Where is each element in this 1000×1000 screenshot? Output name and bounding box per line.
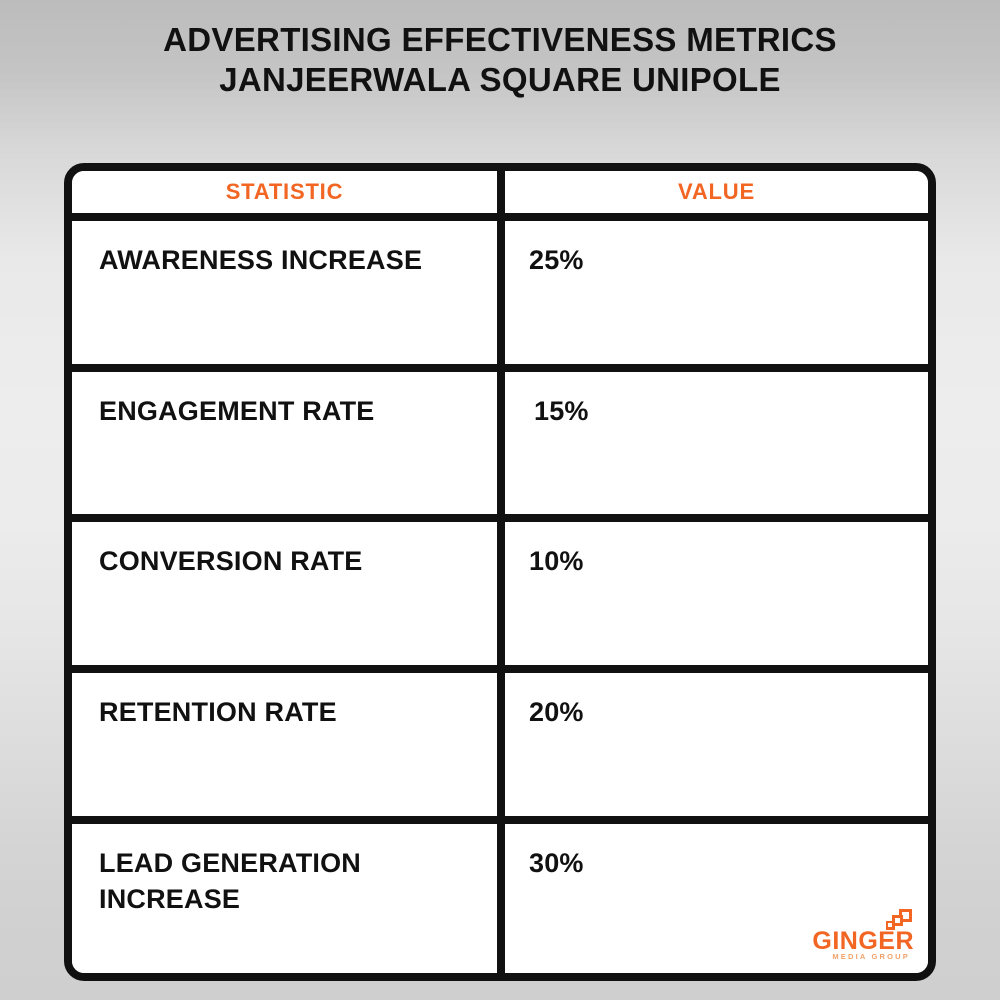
table-cell-value: 10% [505, 522, 928, 665]
metrics-table: STATISTIC VALUE AWARENESS INCREASE 25% E… [64, 163, 936, 981]
ginger-media-group-logo: GINGER MEDIA GROUP [774, 909, 914, 967]
table-row: CONVERSION RATE 10% [72, 522, 928, 673]
statistic-label: AWARENESS INCREASE [72, 243, 497, 279]
table-cell-value: 30% GINGER MEDIA GROUP [505, 824, 928, 973]
value-label: 15% [505, 394, 928, 430]
table-header-cell-value: VALUE [505, 171, 928, 213]
value-label: 10% [505, 544, 928, 580]
column-header-statistic: STATISTIC [226, 179, 344, 205]
column-header-value: VALUE [678, 179, 755, 205]
table-cell-statistic: ENGAGEMENT RATE [72, 372, 505, 515]
page-title: ADVERTISING EFFECTIVENESS METRICS JANJEE… [0, 20, 1000, 101]
statistic-label: LEAD GENERATION INCREASE [72, 846, 497, 917]
table-row: LEAD GENERATION INCREASE 30% GINGER MEDI… [72, 824, 928, 973]
table-cell-statistic: LEAD GENERATION INCREASE [72, 824, 505, 973]
table-cell-value: 25% [505, 221, 928, 364]
table-header-cell-statistic: STATISTIC [72, 171, 505, 213]
table-cell-statistic: CONVERSION RATE [72, 522, 505, 665]
logo-wordmark: GINGER [776, 929, 914, 954]
logo-tagline: MEDIA GROUP [776, 953, 910, 961]
table-header-row: STATISTIC VALUE [72, 171, 928, 221]
table-row: ENGAGEMENT RATE 15% [72, 372, 928, 523]
table-cell-value: 15% [505, 372, 928, 515]
table-row: AWARENESS INCREASE 25% [72, 221, 928, 372]
statistic-label: ENGAGEMENT RATE [72, 394, 497, 430]
value-label: 20% [505, 695, 928, 731]
table-cell-value: 20% [505, 673, 928, 816]
value-label: 25% [505, 243, 928, 279]
statistic-label: CONVERSION RATE [72, 544, 497, 580]
statistic-label: RETENTION RATE [72, 695, 497, 731]
page-title-line-2: JANJEERWALA SQUARE UNIPOLE [0, 60, 1000, 100]
table-row: RETENTION RATE 20% [72, 673, 928, 824]
page-title-line-1: ADVERTISING EFFECTIVENESS METRICS [0, 20, 1000, 60]
value-label: 30% [505, 846, 928, 882]
table-cell-statistic: RETENTION RATE [72, 673, 505, 816]
table-cell-statistic: AWARENESS INCREASE [72, 221, 505, 364]
